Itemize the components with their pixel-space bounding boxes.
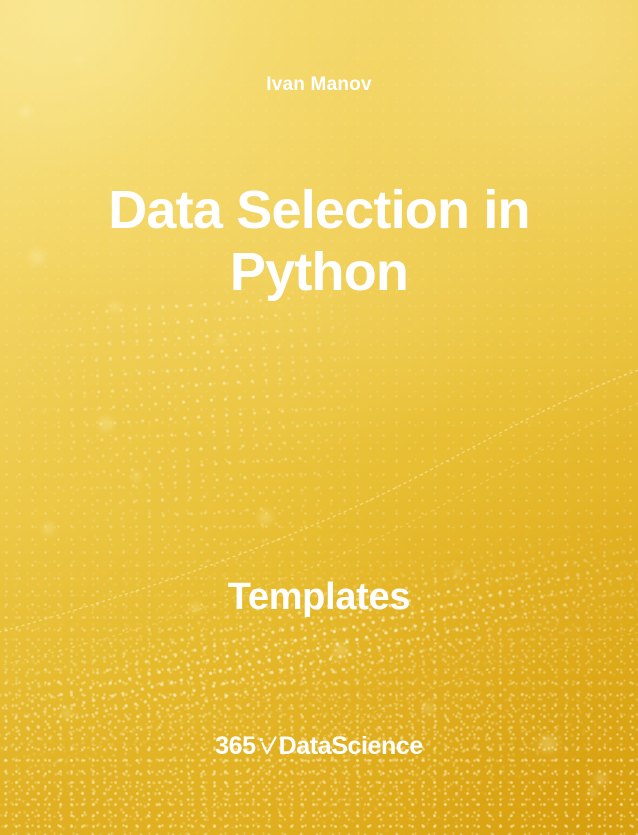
cover-content: Ivan Manov Data Selection in Python Temp…: [0, 0, 638, 835]
cover-subtitle: Templates: [0, 576, 638, 619]
cover-title-line-2: Python: [84, 241, 554, 303]
course-cover: Ivan Manov Data Selection in Python Temp…: [0, 0, 638, 835]
brand-logo-name: DataScience: [279, 734, 423, 759]
brand-logo-number: 365: [215, 734, 256, 759]
brand-logo: 365 DataScience: [0, 734, 638, 759]
check-radical-icon: [258, 734, 278, 759]
author-name: Ivan Manov: [266, 74, 371, 97]
cover-title: Data Selection in Python: [84, 179, 554, 303]
cover-title-line-1: Data Selection in: [84, 179, 554, 241]
